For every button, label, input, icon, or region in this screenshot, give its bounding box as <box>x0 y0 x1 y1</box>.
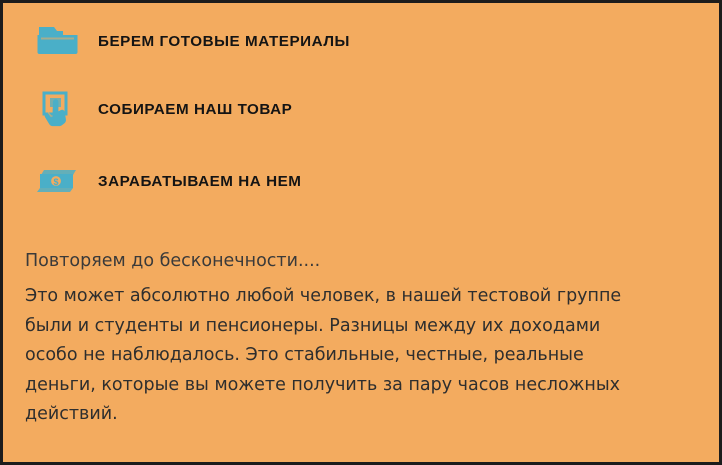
paragraph-line: особо не наблюдалось. Это стабильные, че… <box>25 341 707 371</box>
svg-text:$: $ <box>53 177 58 187</box>
paragraph-line: деньги, которые вы можете получить за па… <box>25 371 707 401</box>
banknotes-dollar-icon: $ <box>36 166 90 196</box>
paragraph-line: действий. <box>25 400 707 430</box>
body-copy: Повторяем до бесконечности.... Это может… <box>25 246 711 430</box>
folder-icon <box>36 24 90 58</box>
description-paragraph: Это может абсолютно любой человек, в наш… <box>25 282 707 430</box>
list-item: БЕРЕМ ГОТОВЫЕ МАТЕРИАЛЫ <box>3 13 719 69</box>
lead-text: Повторяем до бесконечности.... <box>25 246 711 276</box>
list-item: $ ЗАРАБАТЫВАЕМ НА НЕМ <box>3 153 719 209</box>
promo-card: БЕРЕМ ГОТОВЫЕ МАТЕРИАЛЫ СОБИРАЕМ НАШ ТОВ… <box>0 0 722 465</box>
paragraph-line: были и студенты и пенсионеры. Разницы ме… <box>25 312 707 342</box>
paragraph-line: Это может абсолютно любой человек, в наш… <box>25 282 707 312</box>
step-label: БЕРЕМ ГОТОВЫЕ МАТЕРИАЛЫ <box>98 33 350 50</box>
step-label: ЗАРАБАТЫВАЕМ НА НЕМ <box>98 173 301 190</box>
hand-tap-box-icon <box>36 89 90 129</box>
step-label: СОБИРАЕМ НАШ ТОВАР <box>98 101 292 118</box>
list-item: СОБИРАЕМ НАШ ТОВАР <box>3 81 719 137</box>
